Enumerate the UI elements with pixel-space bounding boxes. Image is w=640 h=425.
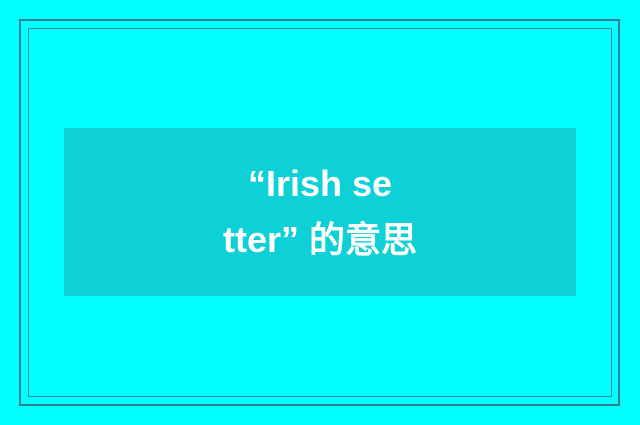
headline-line-1: “Irish se [248,156,392,212]
headline-line-2: tter” 的意思 [223,212,417,268]
headline-card: “Irish se tter” 的意思 [64,128,576,296]
